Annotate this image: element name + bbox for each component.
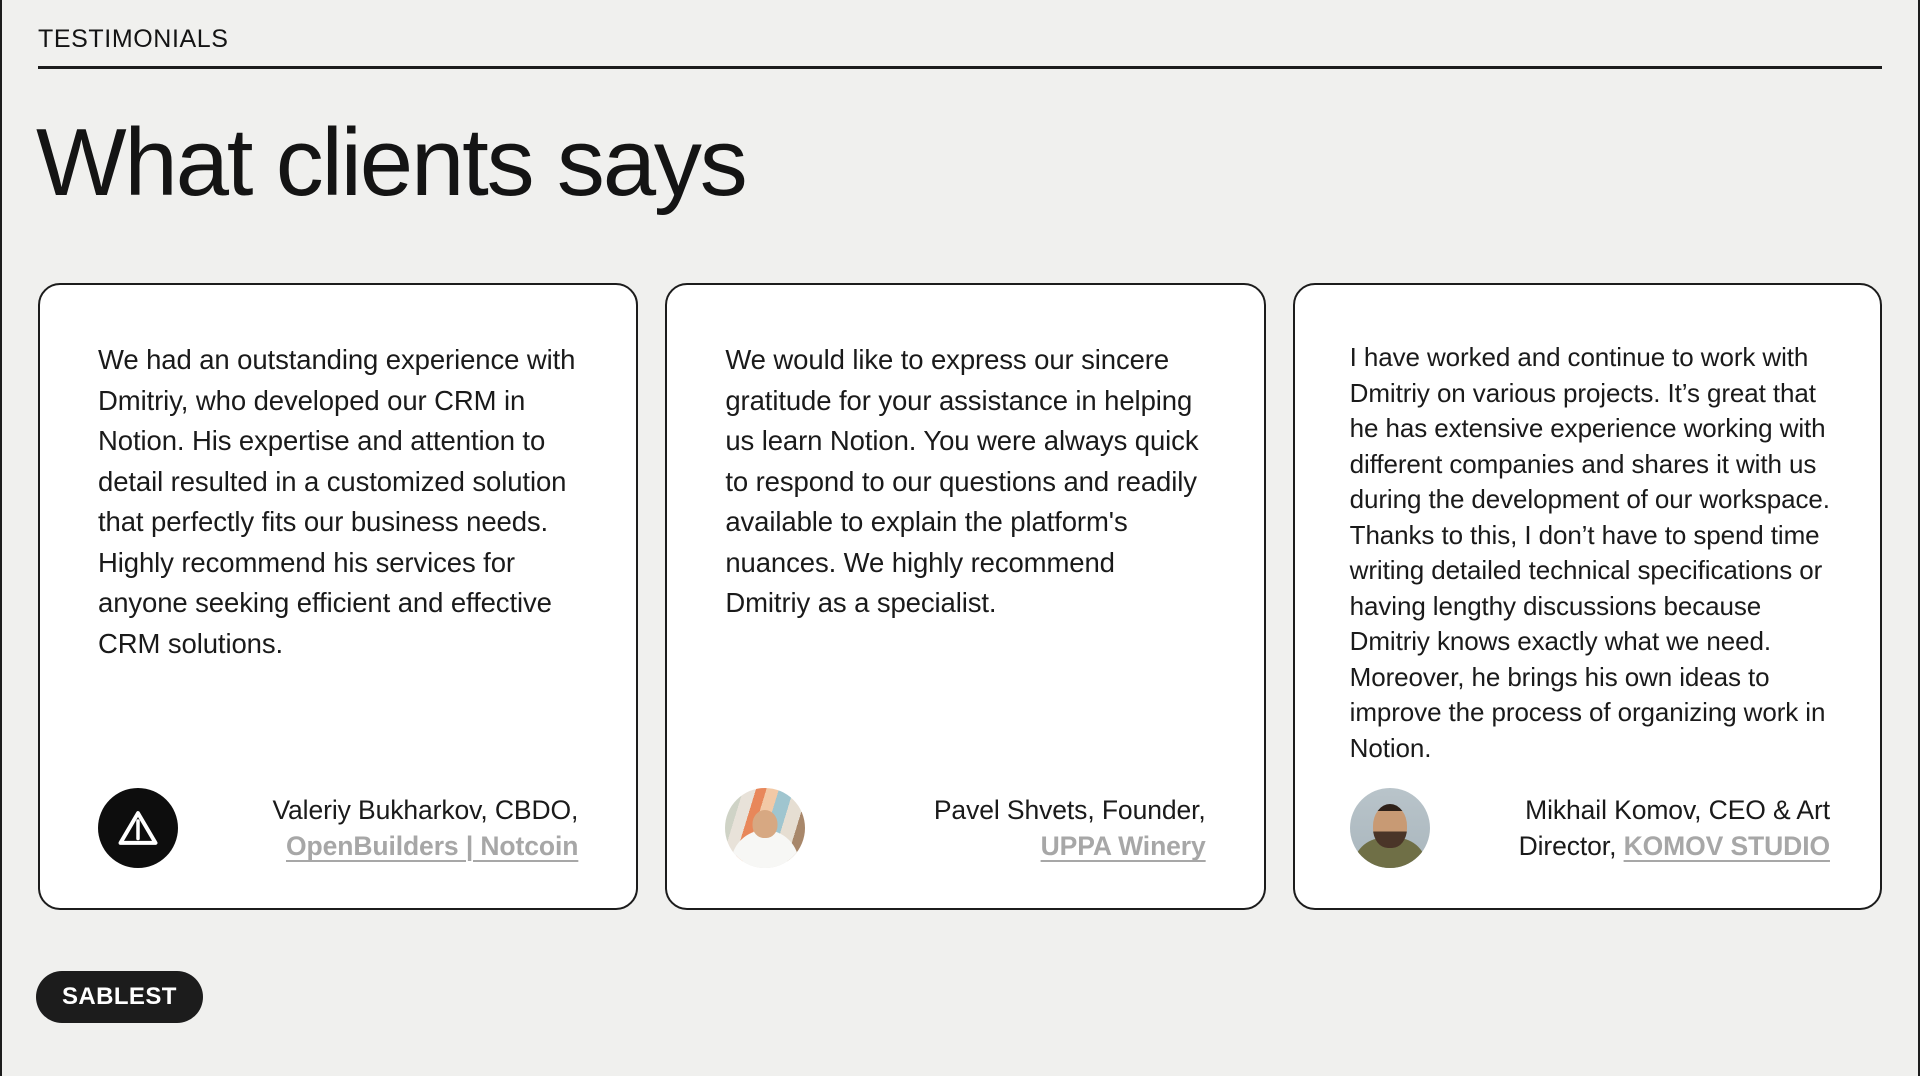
page-title: What clients says <box>36 115 1918 211</box>
testimonial-author: Pavel Shvets, Founder, UPPA Winery <box>725 788 1205 868</box>
company-link[interactable]: OpenBuilders | Notcoin <box>286 831 578 861</box>
author-info: Pavel Shvets, Founder, UPPA Winery <box>827 792 1205 864</box>
testimonial-author: Mikhail Komov, CEO & Art Director, KOMOV… <box>1350 788 1830 868</box>
openbuilders-logo-avatar <box>98 788 178 868</box>
author-name-role: Pavel Shvets, Founder, <box>934 795 1206 825</box>
testimonial-author: Valeriy Bukharkov, CBDO, OpenBuilders | … <box>98 788 578 868</box>
author-name-role: Valeriy Bukharkov, CBDO, <box>272 795 578 825</box>
author-info: Mikhail Komov, CEO & Art Director, KOMOV… <box>1452 792 1830 864</box>
testimonial-quote: We would like to express our sincere gra… <box>725 340 1205 624</box>
testimonial-quote: I have worked and continue to work with … <box>1350 340 1830 766</box>
section-header: TESTIMONIALS <box>38 0 1882 69</box>
testimonial-card: We had an outstanding experience with Dm… <box>38 283 638 910</box>
testimonial-card: I have worked and continue to work with … <box>1293 283 1882 910</box>
brand-badge[interactable]: SABLEST <box>36 971 203 1023</box>
triangle-logo-icon <box>117 807 159 849</box>
testimonial-quote: We had an outstanding experience with Dm… <box>98 340 578 664</box>
pavel-shvets-photo-avatar <box>725 788 805 868</box>
author-info: Valeriy Bukharkov, CBDO, OpenBuilders | … <box>200 792 578 864</box>
testimonial-card: We would like to express our sincere gra… <box>665 283 1265 910</box>
company-link[interactable]: UPPA Winery <box>1041 831 1206 861</box>
testimonials-page: TESTIMONIALS What clients says We had an… <box>0 0 1920 1076</box>
testimonials-list: We had an outstanding experience with Dm… <box>38 283 1882 910</box>
section-eyebrow: TESTIMONIALS <box>38 26 1882 66</box>
company-link[interactable]: KOMOV STUDIO <box>1624 831 1830 861</box>
header-divider <box>38 66 1882 69</box>
mikhail-komov-photo-avatar <box>1350 788 1430 868</box>
